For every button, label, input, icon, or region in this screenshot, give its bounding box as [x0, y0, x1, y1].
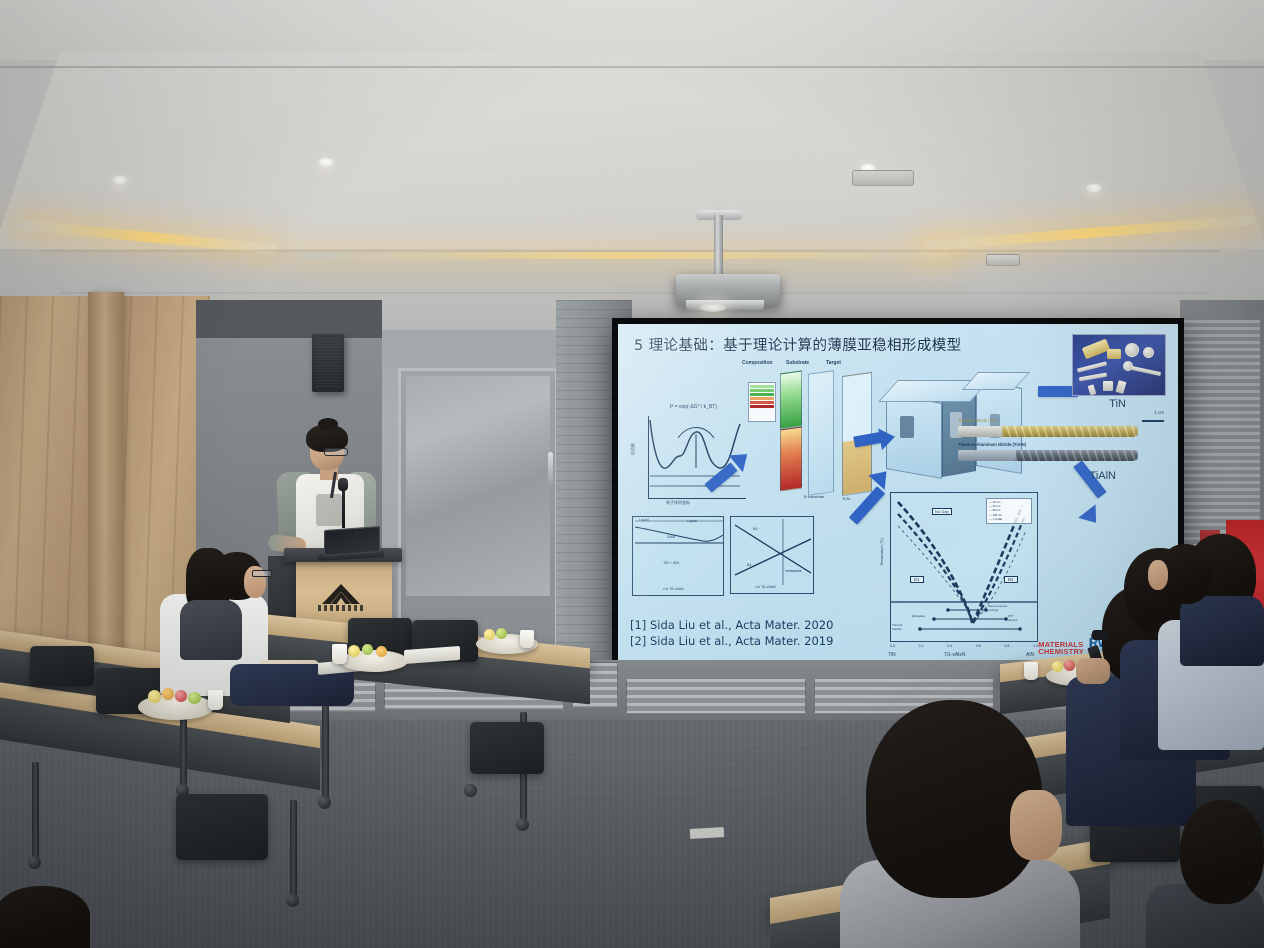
projection-screen-bezel: 5 理论基础：基于理论计算的薄膜亚稳相形成模型 P = exp(-ΔG* / k… — [612, 318, 1184, 670]
fruit-4 — [188, 692, 201, 704]
phase2-xlabel: x in Ti1-xAlxN — [755, 585, 776, 589]
projector-pole — [714, 215, 723, 277]
downlight-1 — [112, 176, 128, 185]
air-vent-1 — [852, 170, 914, 186]
label-composition: Composition — [742, 360, 773, 366]
attendee-fg-ear — [1010, 790, 1062, 860]
wall-dark-band — [196, 300, 382, 338]
chamber-port-1 — [900, 416, 914, 438]
attendee-fg3-head — [0, 886, 90, 948]
presenter-hair-top — [318, 418, 338, 430]
fruit-6 — [362, 644, 373, 655]
door-handle[interactable] — [548, 452, 553, 486]
slide-title: 5 理论基础：基于理论计算的薄膜亚稳相形成模型 — [634, 334, 962, 355]
air-vent-2 — [986, 254, 1020, 266]
downlight-2 — [318, 158, 334, 167]
ceiling-seam — [0, 66, 1264, 68]
paper-cup-left-2[interactable] — [332, 644, 347, 664]
phase-diagram-x-right: AlN — [1026, 652, 1034, 658]
fruit-9 — [496, 628, 507, 639]
scale-bar-line — [1142, 420, 1164, 422]
label-tin: TiN — [1109, 398, 1126, 410]
attendee-right-4-body — [1180, 596, 1264, 666]
composition-gradient-red — [780, 426, 802, 491]
attendee-left-1-glasses — [252, 570, 272, 577]
downlight-4 — [1086, 184, 1102, 193]
fruit-10 — [1052, 661, 1063, 672]
presenter-laptop-screen[interactable] — [324, 526, 380, 556]
energy-barrier-xlabel: 原子排列坐标 — [666, 500, 690, 506]
table-caster-1 — [28, 856, 41, 869]
attendee-right-1-glasses — [1092, 630, 1108, 640]
wall-louver-5 — [626, 678, 806, 714]
chart-crossing-lines-small: B4 B1 metastable x in Ti1-xAlxN — [730, 516, 814, 594]
table-leg-1 — [32, 762, 39, 858]
phase-diagram-ylabel: Temperature (°C) — [880, 538, 884, 566]
projector — [676, 274, 780, 306]
fruit-7 — [376, 646, 387, 657]
caption-tialn-drill: Titanium Aluminum Nitride (TiAlN) — [958, 442, 1026, 447]
paper-cup-left-1[interactable] — [208, 690, 223, 710]
wood-column — [88, 292, 124, 696]
table-leg-2 — [290, 800, 297, 896]
projector-lens-icon — [700, 303, 726, 312]
chart-phase-diagram-small-1: Liquid Liquid Solid TiN + AlN x in Ti1-x… — [632, 516, 724, 596]
table-caster-4 — [318, 796, 331, 809]
drill-bit-tialn — [958, 450, 1138, 461]
paper-cup-center[interactable] — [520, 630, 534, 648]
microphone-icon — [338, 478, 348, 491]
substrate-panel — [808, 370, 834, 496]
attendee-right-4-face — [1148, 560, 1168, 590]
fruit-2 — [162, 688, 174, 700]
fruit-11 — [1064, 660, 1075, 671]
ceiling-slab — [0, 0, 1264, 60]
fruit-5 — [348, 645, 360, 657]
phase-diagram-x-left: TiN — [888, 652, 896, 658]
table-caster-5 — [516, 818, 529, 831]
energy-barrier-ylabel: 自由能 — [630, 443, 636, 455]
paper-cup-right[interactable] — [1024, 662, 1038, 680]
table-caster-6 — [464, 784, 477, 797]
label-substrate: Substrate — [786, 360, 809, 366]
scale-bar-label: 1 cm — [1154, 410, 1164, 415]
projection-screen: 5 理论基础：基于理论计算的薄膜亚稳相形成模型 P = exp(-ΔG* / k… — [618, 324, 1178, 664]
chair-front-left[interactable] — [176, 794, 268, 860]
composition-legend — [748, 382, 776, 422]
ceiling-recess — [0, 52, 1264, 249]
cove-light-center — [300, 252, 950, 259]
chart-energy-barrier: P = exp(-ΔG* / k_BT) 自由能 原子排列坐标 — [636, 416, 748, 508]
composition-gradient-green — [780, 370, 802, 429]
attendee-right-1-hand — [1076, 658, 1110, 684]
attendee-left-2-body — [180, 600, 242, 660]
energy-barrier-annotation: P = exp(-ΔG* / k_BT) — [670, 404, 717, 410]
table-caster-2 — [286, 894, 299, 907]
fruit-1 — [148, 690, 161, 703]
glass-door-panel[interactable] — [406, 376, 550, 596]
citation-1: [1] Sida Liu et al., Acta Mater. 2020 — [630, 617, 833, 634]
coated-tools-photo — [1072, 334, 1166, 396]
fruit-8 — [484, 629, 495, 640]
podium-logo — [318, 584, 364, 614]
citation-2: [2] Sida Liu et al., Acta Mater. 2019 — [630, 633, 833, 650]
chart-tialn-phase-diagram: — 10 nm— 20 nm— 50 nm— 100 nm— ∞ (bulk) … — [890, 492, 1038, 642]
caption-tin-drill: Titanium Nitride (TiN) — [958, 418, 997, 423]
label-target: Target — [826, 360, 841, 366]
floor-marker — [690, 827, 724, 839]
composition-substrate-target-diagram: Composition Substrate Target B substrate… — [746, 360, 858, 500]
attendee-fg2-head — [1180, 800, 1264, 904]
phase-diagram-xticks: 0.00.20.40.60.81.0 — [890, 644, 1038, 648]
phase1-xlabel: x in Ti1-xAlxN — [663, 587, 684, 591]
presenter-shirt-print — [316, 494, 342, 526]
ceiling-seam-3 — [60, 292, 1210, 294]
chair-left-1[interactable] — [30, 646, 94, 686]
label-tialn: TiAlN — [1090, 470, 1116, 482]
slide-citations: [1] Sida Liu et al., Acta Mater. 2020 [2… — [630, 617, 833, 650]
conference-room-photo: 5 理论基础：基于理论计算的薄膜亚稳相形成模型 P = exp(-ΔG* / k… — [0, 0, 1264, 948]
phase-diagram-legend: — 10 nm— 20 nm— 50 nm— 100 nm— ∞ (bulk) — [986, 498, 1032, 524]
chair-center-3[interactable] — [470, 722, 544, 774]
phase-diagram-xlabel: Ti1-xAlxN — [944, 652, 965, 658]
presenter-glasses — [324, 448, 348, 456]
fruit-3 — [175, 690, 187, 702]
wall-speaker — [312, 334, 344, 392]
podium-chinese-text — [318, 605, 364, 611]
drill-bit-tin — [958, 426, 1138, 437]
